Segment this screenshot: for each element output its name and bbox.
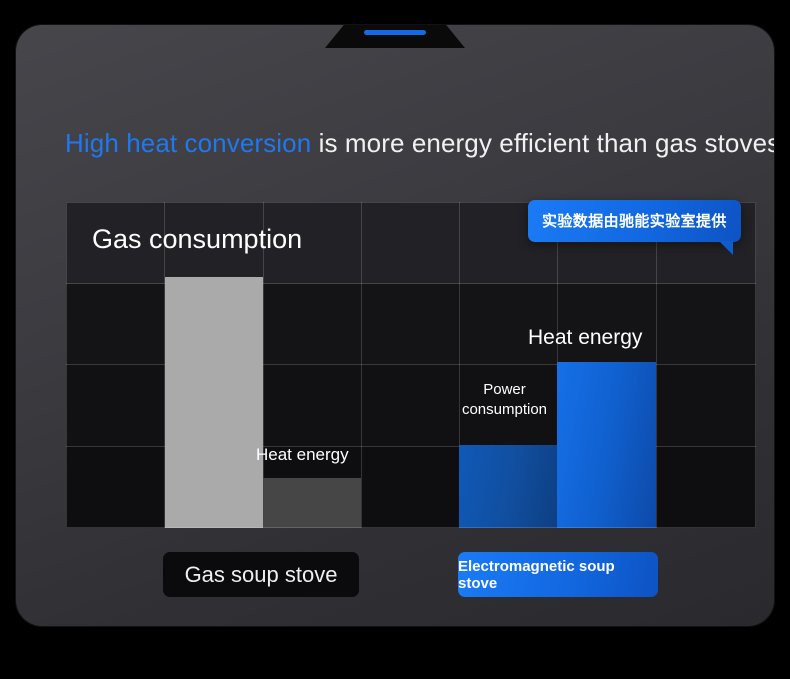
bar-label-electromagnetic-power-consumption: Power consumption [452,380,557,421]
headline-accent: High heat conversion [65,128,311,158]
bar-gas-heat-energy [263,478,361,528]
bar-electromagnetic-heat-energy [557,362,656,528]
page-title: High heat conversion is more energy effi… [65,129,774,158]
legend-gas-label: Gas soup stove [185,562,338,588]
legend-electromagnetic-label: Electromagnetic soup stove [458,558,658,592]
bar-label-electromagnetic-heat-energy: Heat energy [528,326,642,350]
source-badge: 实验数据由驰能实验室提供 [528,200,741,242]
bar-gas-consumption [165,277,263,528]
legend-electromagnetic-soup-stove[interactable]: Electromagnetic soup stove [458,552,658,597]
bar-label-gas-consumption: Gas consumption [92,224,302,255]
device-card: High heat conversion is more energy effi… [16,25,774,626]
bar-chart: Gas consumption Heat energy Power consum… [66,202,756,528]
bar-label-gas-heat-energy: Heat energy [256,445,349,465]
speaker-bar-icon [364,30,426,35]
headline-rest: is more energy efficient than gas stoves [311,128,774,158]
device-notch [325,25,465,48]
source-badge-tail-icon [719,241,733,255]
grid-column-line [361,202,362,528]
legend-gas-soup-stove[interactable]: Gas soup stove [163,552,359,597]
source-badge-text: 实验数据由驰能实验室提供 [542,213,727,230]
screenshot-root: High heat conversion is more energy effi… [0,0,790,679]
grid-column-line [656,202,657,528]
bar-electromagnetic-power-consumption [459,445,557,528]
